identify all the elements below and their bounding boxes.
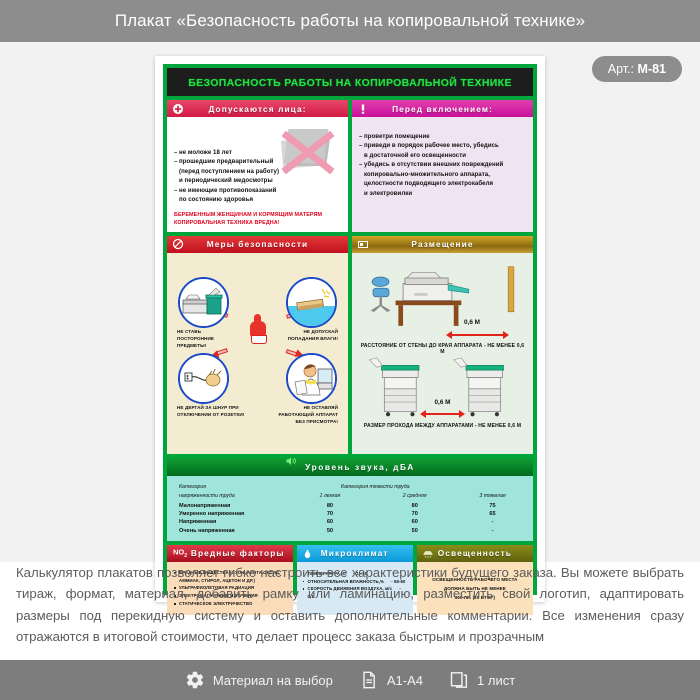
safety-diagram: НЕ СТАВЬ ПОСТОРОННИЕ ПРЕДМЕТЫ! — [172, 257, 343, 409]
row-label: Малонапряженная — [175, 502, 291, 510]
poster-row-3: Уровень звука, дБА Категория Категория т… — [167, 458, 533, 541]
panel-admitted-header: Допускаются лица: — [167, 100, 348, 117]
table-row: Умеренно напряженная 70 70 65 — [175, 510, 525, 518]
cell-value: - — [460, 518, 525, 526]
spacer-cell — [460, 484, 525, 493]
no2-label: NO — [173, 547, 184, 556]
footer-material-label: Материал на выбор — [213, 673, 333, 688]
exclamation-icon — [357, 103, 369, 115]
poster-image[interactable]: БЕЗОПАСНОСТЬ РАБОТЫ НА КОПИРОВАЛЬНОЙ ТЕХ… — [155, 56, 545, 602]
panel-before-power-on: Перед включением: проветри помещение при… — [352, 100, 533, 232]
article-code: M-81 — [638, 62, 666, 76]
plus-circle-icon — [172, 103, 184, 115]
panel-before-power-on-body: проветри помещение приведи в порядок раб… — [352, 117, 533, 232]
panel-safety-measures: Меры безопасности — [167, 236, 348, 454]
product-footer: Материал на выбор A1-A4 1 лист — [0, 660, 700, 700]
pointing-hand-icon — [250, 314, 266, 344]
no-objects-icon — [178, 277, 229, 328]
layers-icon — [449, 670, 469, 690]
placement-dimension-bar-2 — [420, 410, 465, 419]
speaker-icon — [285, 458, 297, 467]
page-root: Плакат «Безопасность работы на копировал… — [0, 0, 700, 700]
panel-sound-level-body: Категория Категория тяжести труда напряж… — [167, 476, 533, 541]
panel-placement-title: Размещение — [411, 239, 473, 249]
panel-sound-level-header: Уровень звука, дБА — [167, 458, 533, 476]
no-moisture-icon — [286, 277, 337, 328]
caption-no-unattended: НЕ ОСТАВЛЯЙ РАБОТАЮЩИЙ АППАРАТ БЕЗ ПРИСМ… — [272, 405, 338, 426]
sound-level-table: Категория Категория тяжести труда напряж… — [175, 484, 525, 535]
footer-item-sheets[interactable]: 1 лист — [449, 670, 515, 690]
panel-illumination-title: Освещенность — [438, 548, 512, 558]
article-badge: Арт.: M-81 — [592, 56, 682, 82]
gear-icon — [185, 670, 205, 690]
cell-value: 60 — [369, 518, 460, 526]
row-label: Умеренно напряженная — [175, 510, 291, 518]
no-cord-pull-icon — [178, 353, 229, 404]
placement-note-2: РАЗМЕР ПРОХОДА МЕЖДУ АППАРАТАМИ - НЕ МЕН… — [358, 423, 527, 429]
list-item: по состоянию здоровья — [174, 195, 341, 204]
panel-placement-header: Размещение — [352, 236, 533, 253]
droplet-icon — [302, 547, 314, 559]
panel-admitted-list: не моложе 18 лет прошедшие предварительн… — [174, 148, 341, 205]
panel-placement: Размещение — [352, 236, 533, 454]
placement-scene-aisle: 0,6 М РАЗМЕР ПРОХОДА МЕЖДУ АППАРАТАМИ - … — [358, 350, 527, 450]
panel-harmful-factors-header: NO2 Вредные факторы — [167, 545, 293, 562]
poster-title-banner: БЕЗОПАСНОСТЬ РАБОТЫ НА КОПИРОВАЛЬНОЙ ТЕХ… — [167, 68, 533, 96]
caption-no-moisture: НЕ ДОПУСКАЙ ПОПАДАНИЯ ВЛАГИ! — [280, 329, 338, 343]
prohibition-icon — [172, 238, 184, 250]
caption-no-objects: НЕ СТАВЬ ПОСТОРОННИЕ ПРЕДМЕТЫ! — [177, 329, 239, 350]
page-title: Плакат «Безопасность работы на копировал… — [115, 11, 585, 31]
copier-icon — [357, 238, 369, 250]
table-row: Напряженная 60 60 - — [175, 518, 525, 526]
placement-scene-wall: 0,6 М РАССТОЯНИЕ ОТ СТЕНЫ ДО КРАЯ АППАРА… — [358, 257, 527, 350]
panel-admitted-warning: БЕРЕМЕННЫМ ЖЕНЩИНАМ И КОРМЯЩИМ МАТЕРЯМ К… — [174, 211, 341, 227]
no2-subscript: 2 — [184, 553, 187, 559]
cell-value: 75 — [460, 502, 525, 510]
row-header-caption-2: напряженности труда — [175, 493, 291, 502]
poster-stage: Арт.: M-81 БЕЗОПАСНОСТЬ РАБОТЫ НА КОПИРО… — [0, 42, 700, 562]
placement-dimension-1: 0,6 М — [464, 319, 480, 326]
panel-safety-measures-title: Меры безопасности — [207, 239, 308, 249]
row-label: Очень напряженная — [175, 526, 291, 534]
panel-safety-measures-body: НЕ СТАВЬ ПОСТОРОННИЕ ПРЕДМЕТЫ! — [167, 253, 348, 454]
cell-value: 70 — [291, 510, 370, 518]
list-item: приведи в порядок рабочее место, убедись — [359, 141, 526, 150]
list-item: в достаточной его освещенности — [359, 151, 526, 160]
list-item: и периодический медосмотры — [174, 176, 341, 185]
lamp-icon — [422, 547, 434, 559]
cell-value: 65 — [460, 510, 525, 518]
list-item: прошедшие предварительный — [174, 157, 341, 166]
column-header: 1 легкая — [291, 493, 370, 502]
product-description: Калькулятор плакатов позволяет гибко нас… — [0, 562, 700, 648]
footer-item-material[interactable]: Материал на выбор — [185, 670, 333, 690]
table-row: Очень напряженная 50 50 - — [175, 526, 525, 534]
cell-value: 50 — [369, 526, 460, 534]
poster-row-1: Допускаются лица: не моложе 18 лет проше… — [167, 100, 533, 232]
list-item: (перед поступлением на работу) — [174, 167, 341, 176]
table-row: Малонапряженная 80 80 75 — [175, 502, 525, 510]
list-item: целостности подводящего электрокабеля — [359, 179, 526, 188]
panel-illumination-header: Освещенность — [417, 545, 533, 562]
list-item: не моложе 18 лет — [174, 148, 341, 157]
page-header: Плакат «Безопасность работы на копировал… — [0, 0, 700, 42]
cell-value: 80 — [291, 502, 370, 510]
cell-value: 50 — [291, 526, 370, 534]
list-item: проветри помещение — [359, 132, 526, 141]
panel-placement-body: 0,6 М РАССТОЯНИЕ ОТ СТЕНЫ ДО КРАЯ АППАРА… — [352, 253, 533, 454]
column-header: 3 тяжелая — [460, 493, 525, 502]
table-header-row: напряженности труда 1 легкая 2 средняя 3… — [175, 493, 525, 502]
panel-admitted: Допускаются лица: не моложе 18 лет проше… — [167, 100, 348, 232]
cell-value: 70 — [369, 510, 460, 518]
panel-safety-measures-header: Меры безопасности — [167, 236, 348, 253]
panel-microclimate-header: Микроклимат — [297, 545, 413, 562]
no2-icon: NO2 — [173, 547, 187, 559]
footer-item-format[interactable]: A1-A4 — [359, 670, 423, 690]
list-item: и электровилки — [359, 189, 526, 198]
panel-before-power-on-header: Перед включением: — [352, 100, 533, 117]
desk-copier-illustration — [358, 257, 527, 329]
column-header: 2 средняя — [369, 493, 460, 502]
panel-before-power-on-title: Перед включением: — [392, 104, 493, 114]
cell-value: 80 — [369, 502, 460, 510]
panel-sound-level: Уровень звука, дБА Категория Категория т… — [167, 458, 533, 541]
poster-frame: БЕЗОПАСНОСТЬ РАБОТЫ НА КОПИРОВАЛЬНОЙ ТЕХ… — [163, 64, 537, 595]
poster-row-2: Меры безопасности — [167, 236, 533, 454]
column-group-header: Категория тяжести труда — [291, 484, 461, 493]
list-item: убедись в отсутствии внешних повреждений — [359, 160, 526, 169]
placement-dimension-bar-1 — [446, 331, 509, 340]
panel-microclimate-title: Микроклимат — [321, 548, 389, 558]
list-item: копировально-множительного аппарата, — [359, 170, 526, 179]
no-unattended-icon — [286, 353, 337, 404]
table-group-header-row: Категория Категория тяжести труда — [175, 484, 525, 493]
footer-sheets-label: 1 лист — [477, 673, 515, 688]
row-header-caption: Категория — [175, 484, 291, 493]
panel-sound-level-title: Уровень звука, дБА — [305, 462, 415, 472]
cell-value: - — [460, 526, 525, 534]
article-prefix: Арт.: — [608, 62, 638, 76]
poster-title: БЕЗОПАСНОСТЬ РАБОТЫ НА КОПИРОВАЛЬНОЙ ТЕХ… — [188, 77, 512, 89]
panel-before-power-on-list: проветри помещение приведи в порядок раб… — [359, 132, 526, 198]
cell-value: 60 — [291, 518, 370, 526]
footer-format-label: A1-A4 — [387, 673, 423, 688]
panel-admitted-title: Допускаются лица: — [208, 104, 306, 114]
row-label: Напряженная — [175, 518, 291, 526]
document-icon — [359, 670, 379, 690]
panel-harmful-factors-title: Вредные факторы — [175, 548, 285, 558]
list-item: не имеющие противопоказаний — [174, 186, 341, 195]
caption-no-cord-pull: НЕ ДЕРГАЙ ЗА ШНУР ПРИ ОТКЛЮЧЕНИИ ОТ РОЗЕ… — [177, 405, 247, 419]
placement-dimension-2: 0,6 М — [435, 399, 451, 406]
panel-admitted-body: не моложе 18 лет прошедшие предварительн… — [167, 117, 348, 232]
